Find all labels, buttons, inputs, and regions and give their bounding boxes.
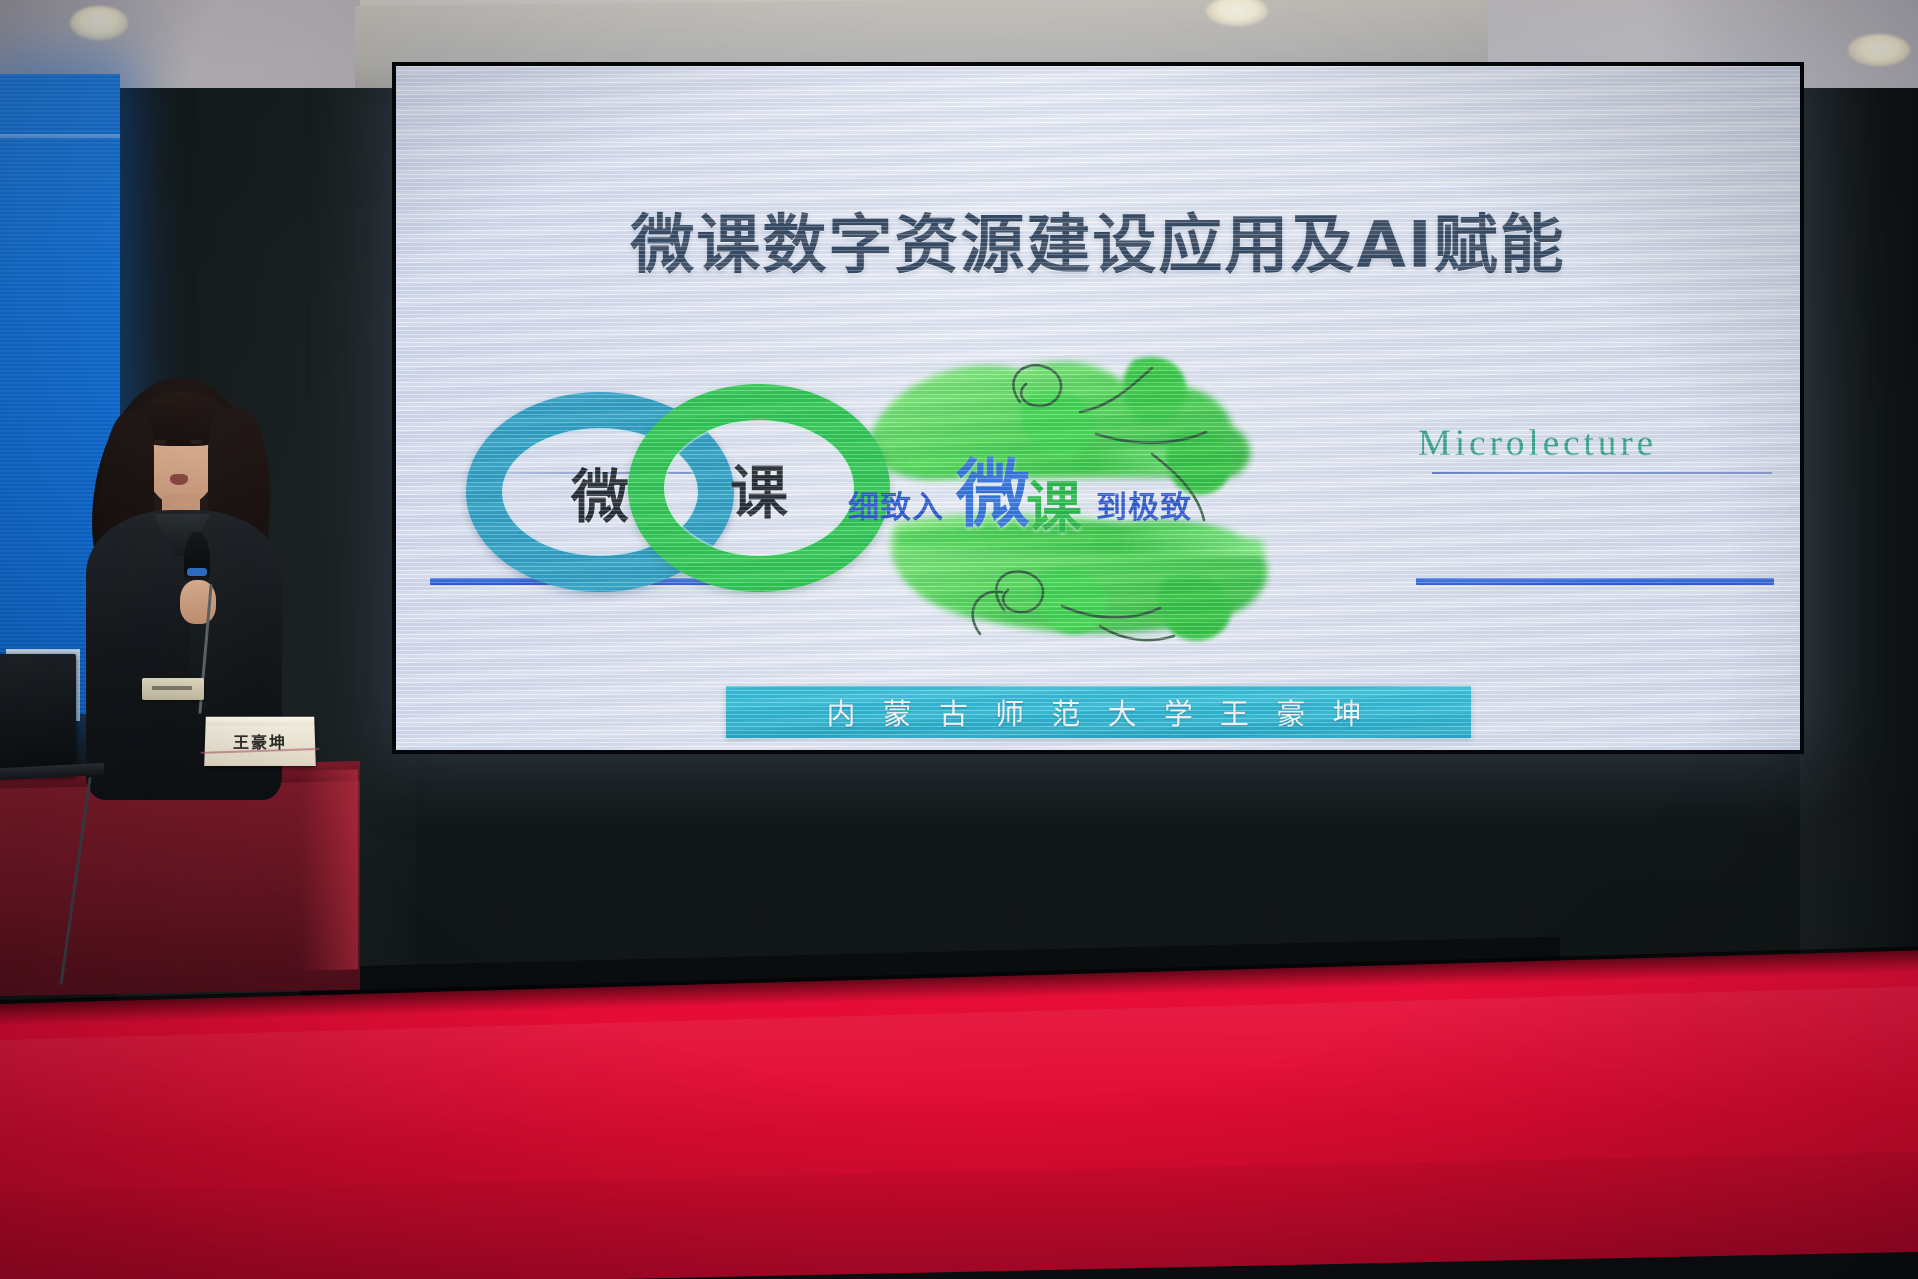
tagline-big-blue: 微 xyxy=(956,464,1030,528)
logo-ring-left-label: 微 xyxy=(571,450,629,534)
microphone-ring xyxy=(187,568,207,576)
nameplate-icon: 王豪坤 xyxy=(204,717,316,766)
led-screen-frame: 微课数字资源建设应用及AI赋能 xyxy=(392,62,1804,754)
logo-ring-right-label: 课 xyxy=(730,446,788,530)
downlight-icon xyxy=(70,6,128,40)
tagline-big-green: 课 xyxy=(1026,485,1082,533)
downlight-icon xyxy=(1848,34,1910,66)
slide-title: 微课数字资源建设应用及AI赋能 xyxy=(396,194,1800,286)
presenter-mouth xyxy=(170,474,188,485)
tagline-prefix: 细致入 xyxy=(848,493,944,528)
led-screen-surface: 微课数字资源建设应用及AI赋能 xyxy=(396,66,1800,750)
slide-footer-text: 内 蒙 古 师 范 大 学 王 豪 坤 xyxy=(827,691,1371,733)
slide-rule-bold-right xyxy=(1416,578,1774,585)
presenter-eye-right xyxy=(190,440,202,444)
tagline-suffix: 到极致 xyxy=(1096,493,1192,528)
slide-tagline: 细致入 微 课 到极致 xyxy=(848,464,1192,528)
presenter-badge xyxy=(142,678,204,700)
slide-footer-bar: 内 蒙 古 师 范 大 学 王 豪 坤 xyxy=(726,686,1471,738)
nameplate-text: 王豪坤 xyxy=(233,729,287,753)
slide-rule-thin-right xyxy=(1432,472,1772,474)
slide-english-subtitle: Microlecture xyxy=(1418,422,1657,465)
presenter-eye-left xyxy=(154,440,166,444)
side-screen-strip xyxy=(0,134,120,138)
photo-scene: 微课数字资源建设应用及AI赋能 xyxy=(0,0,1918,1279)
presenter-table-edge xyxy=(300,769,358,970)
